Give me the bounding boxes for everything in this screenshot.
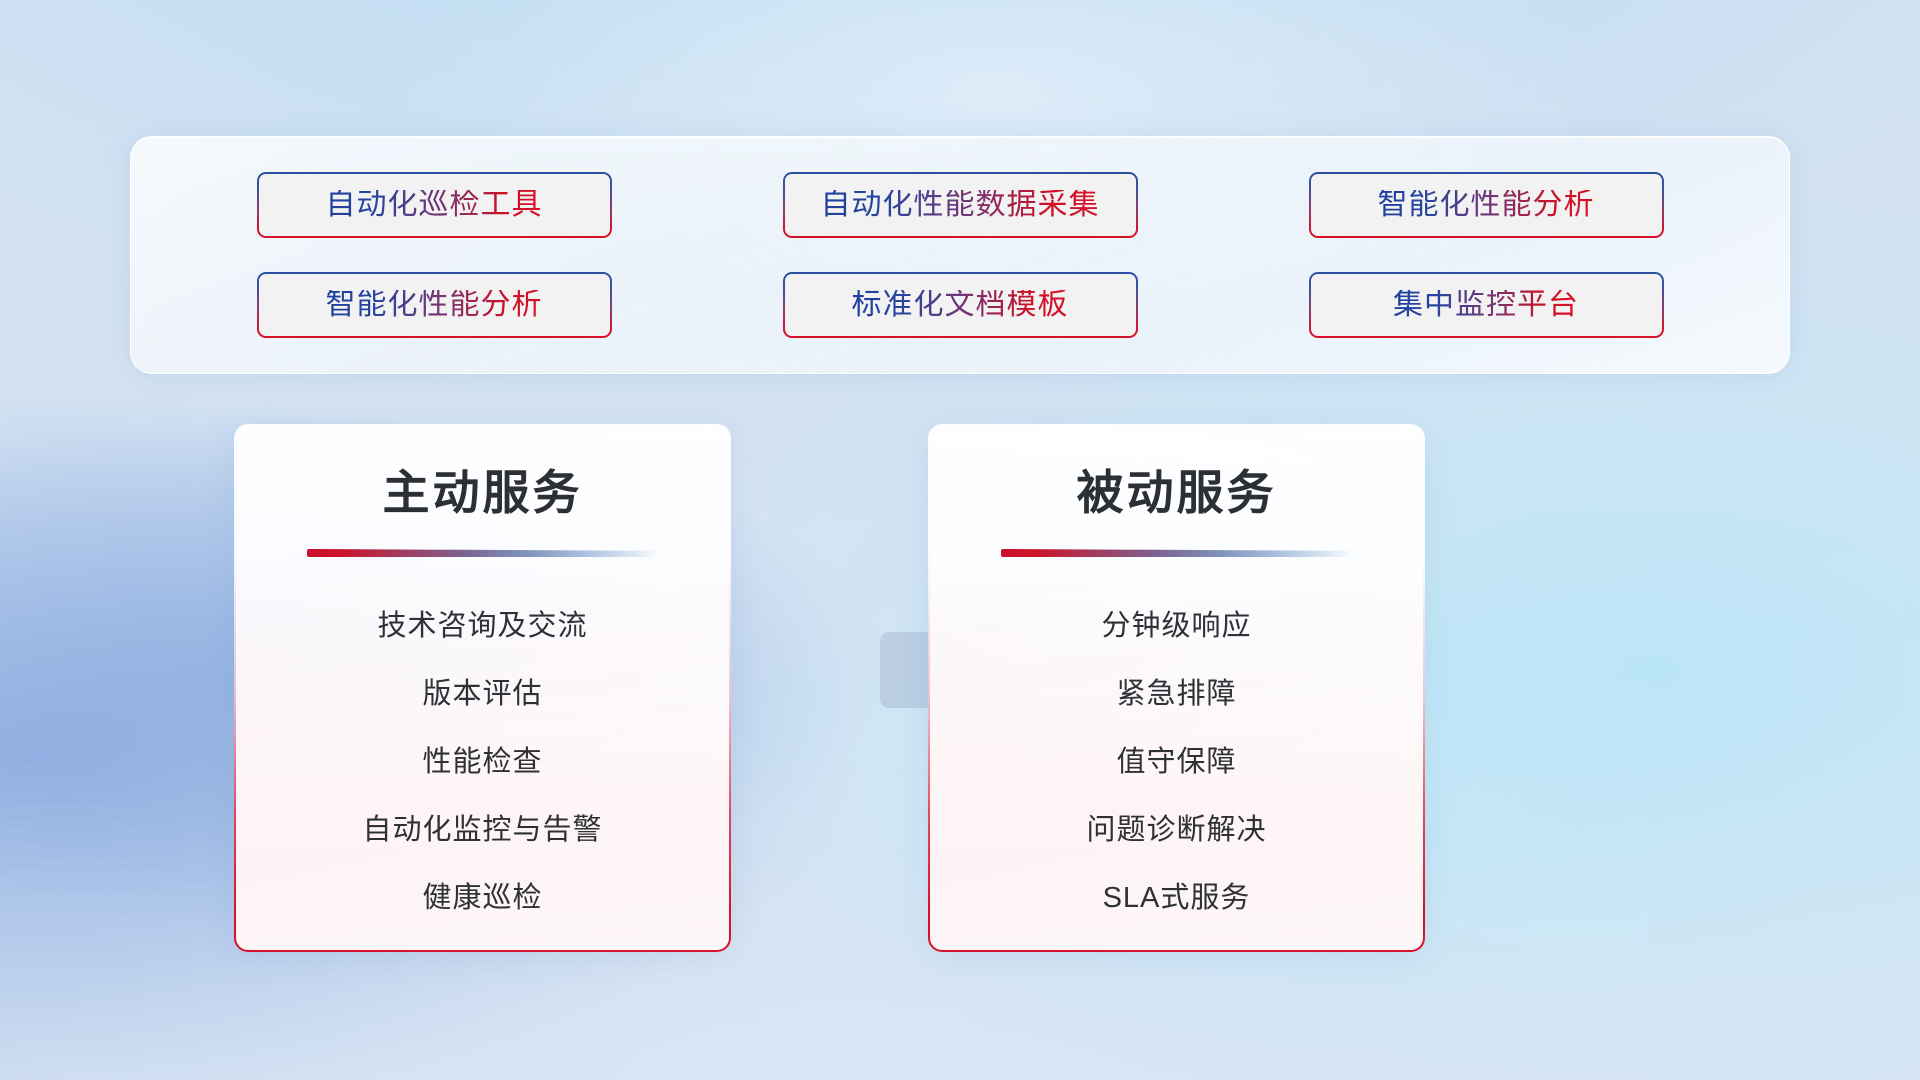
list-item: 版本评估 [236, 657, 729, 725]
service-item-list: 技术咨询及交流 版本评估 性能检查 自动化监控与告警 健康巡检 [236, 589, 729, 929]
capability-chip-5[interactable]: 标准化文档模板 [783, 272, 1138, 338]
capability-chip-label: 自动化巡检工具 [326, 190, 543, 220]
list-item: 问题诊断解决 [930, 793, 1423, 861]
capability-chip-1[interactable]: 自动化巡检工具 [257, 172, 612, 238]
capability-chip-3[interactable]: 智能化性能分析 [1309, 172, 1664, 238]
capability-chip-4[interactable]: 智能化性能分析 [257, 272, 612, 338]
capability-chip-label: 智能化性能分析 [1378, 190, 1595, 220]
card-title: 被动服务 [930, 454, 1423, 523]
card-divider [1001, 549, 1353, 557]
capability-chip-6[interactable]: 集中监控平台 [1309, 272, 1664, 338]
capability-chip-2[interactable]: 自动化性能数据采集 [783, 172, 1138, 238]
list-item: 分钟级响应 [930, 589, 1423, 657]
card-title: 主动服务 [236, 454, 729, 523]
list-item: 自动化监控与告警 [236, 793, 729, 861]
capability-chip-label: 自动化性能数据采集 [821, 190, 1100, 220]
card-divider [307, 549, 659, 557]
service-card-passive: 被动服务 分钟级响应 紧急排障 值守保障 问题诊断解决 SLA式服务 [928, 424, 1425, 952]
capability-chip-label: 集中监控平台 [1393, 290, 1579, 320]
capability-chip-label: 标准化文档模板 [852, 290, 1069, 320]
list-item: 值守保障 [930, 725, 1423, 793]
list-item: 技术咨询及交流 [236, 589, 729, 657]
service-card-active: 主动服务 技术咨询及交流 版本评估 性能检查 自动化监控与告警 健康巡检 [234, 424, 731, 952]
service-item-list: 分钟级响应 紧急排障 值守保障 问题诊断解决 SLA式服务 [930, 589, 1423, 929]
capability-chip-label: 智能化性能分析 [326, 290, 543, 320]
list-item: SLA式服务 [930, 861, 1423, 929]
list-item: 紧急排障 [930, 657, 1423, 725]
list-item: 健康巡检 [236, 861, 729, 929]
capability-panel: 自动化巡检工具 自动化性能数据采集 智能化性能分析 智能化性能分析 标准化文档模… [130, 136, 1790, 374]
list-item: 性能检查 [236, 725, 729, 793]
